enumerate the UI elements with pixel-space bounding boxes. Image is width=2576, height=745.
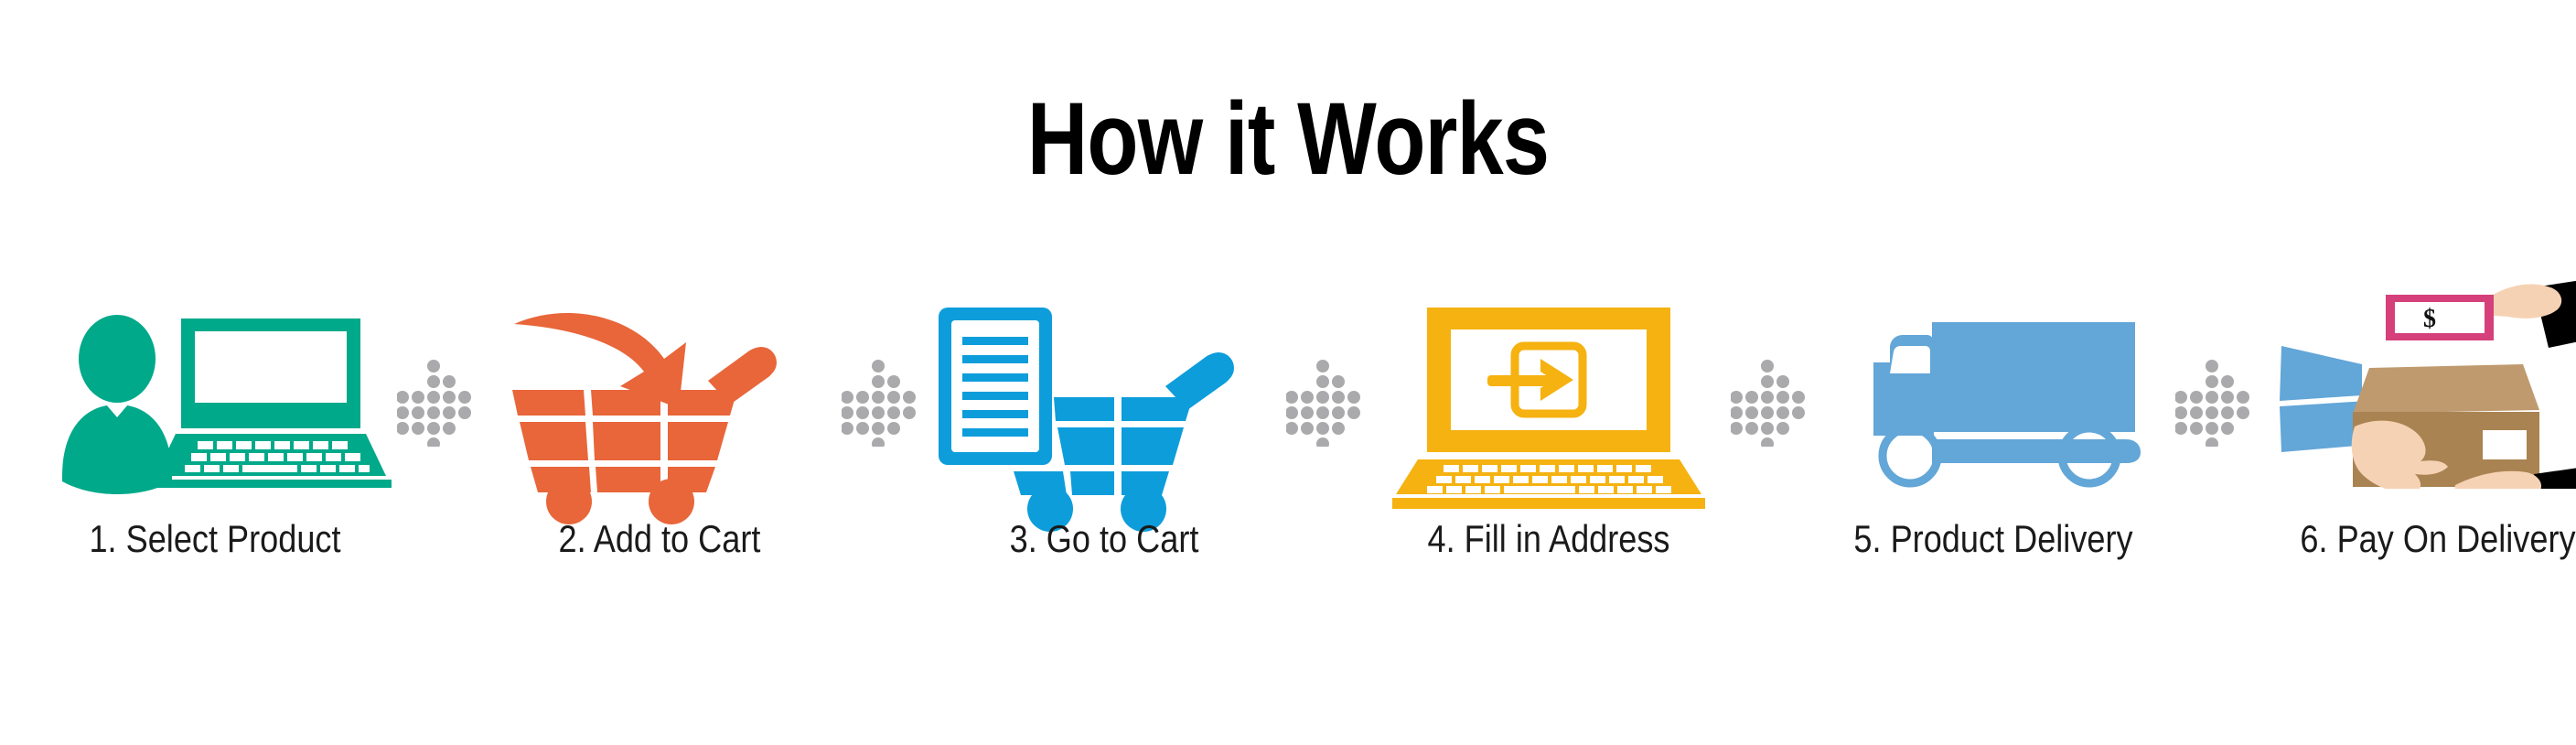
delivery-truck-icon [1815, 302, 2172, 503]
separator-3 [1283, 302, 1370, 503]
box-shipping-label [2483, 430, 2527, 459]
step-5-label: 5. Product Delivery [1840, 520, 2146, 558]
hands-box-money-icon: $ [2259, 278, 2576, 489]
step-4-label: 4. Fill in Address [1395, 520, 1701, 558]
step-2-label: 2. Add to Cart [506, 520, 812, 558]
dotted-arrow-right-icon [397, 359, 478, 447]
step-3-icon-box [926, 302, 1283, 503]
step-1-label: 1. Select Product [61, 520, 368, 558]
step-3-label: 3. Go to Cart [950, 520, 1257, 558]
person-laptop-icon [37, 302, 393, 503]
separator-2 [838, 302, 926, 503]
box-top-face [2353, 364, 2539, 414]
step-6-icon-box: $ [2259, 302, 2576, 503]
step-4-icon-box [1370, 302, 1727, 503]
banknote-dollar-sign: $ [2423, 305, 2436, 333]
step-5-product-delivery[interactable]: 5. Product Delivery [1815, 302, 2172, 604]
banknote-face [2395, 302, 2485, 333]
dotted-arrow-right-icon [842, 359, 922, 447]
step-2-add-to-cart[interactable]: 2. Add to Cart [481, 302, 838, 604]
separator-1 [393, 302, 481, 503]
dotted-arrow-right-icon [2175, 359, 2256, 447]
step-3-go-to-cart[interactable]: 3. Go to Cart [926, 302, 1283, 604]
steps-strip: 1. Select Product [37, 302, 2539, 604]
infographic-page: How it Works [0, 0, 2576, 745]
page-title: How it Works [231, 88, 2344, 190]
laptop-login-icon [1370, 302, 1727, 503]
step-2-icon-box [481, 302, 838, 503]
step-6-pay-on-delivery[interactable]: $ 6. Pay On Delivery [2259, 302, 2576, 604]
hand-upper [2483, 284, 2561, 318]
separator-4 [1727, 302, 1815, 503]
step-5-icon-box [1815, 302, 2172, 503]
step-1-select-product[interactable]: 1. Select Product [37, 302, 393, 604]
separator-5 [2172, 302, 2259, 503]
sleeve-blue-upper [2280, 346, 2362, 401]
step-6-label: 6. Pay On Delivery [2284, 520, 2576, 558]
dotted-arrow-right-icon [1731, 359, 1811, 447]
step-1-icon-box [37, 302, 393, 503]
step-4-fill-in-address[interactable]: 4. Fill in Address [1370, 302, 1727, 604]
dotted-arrow-right-icon [1286, 359, 1367, 447]
